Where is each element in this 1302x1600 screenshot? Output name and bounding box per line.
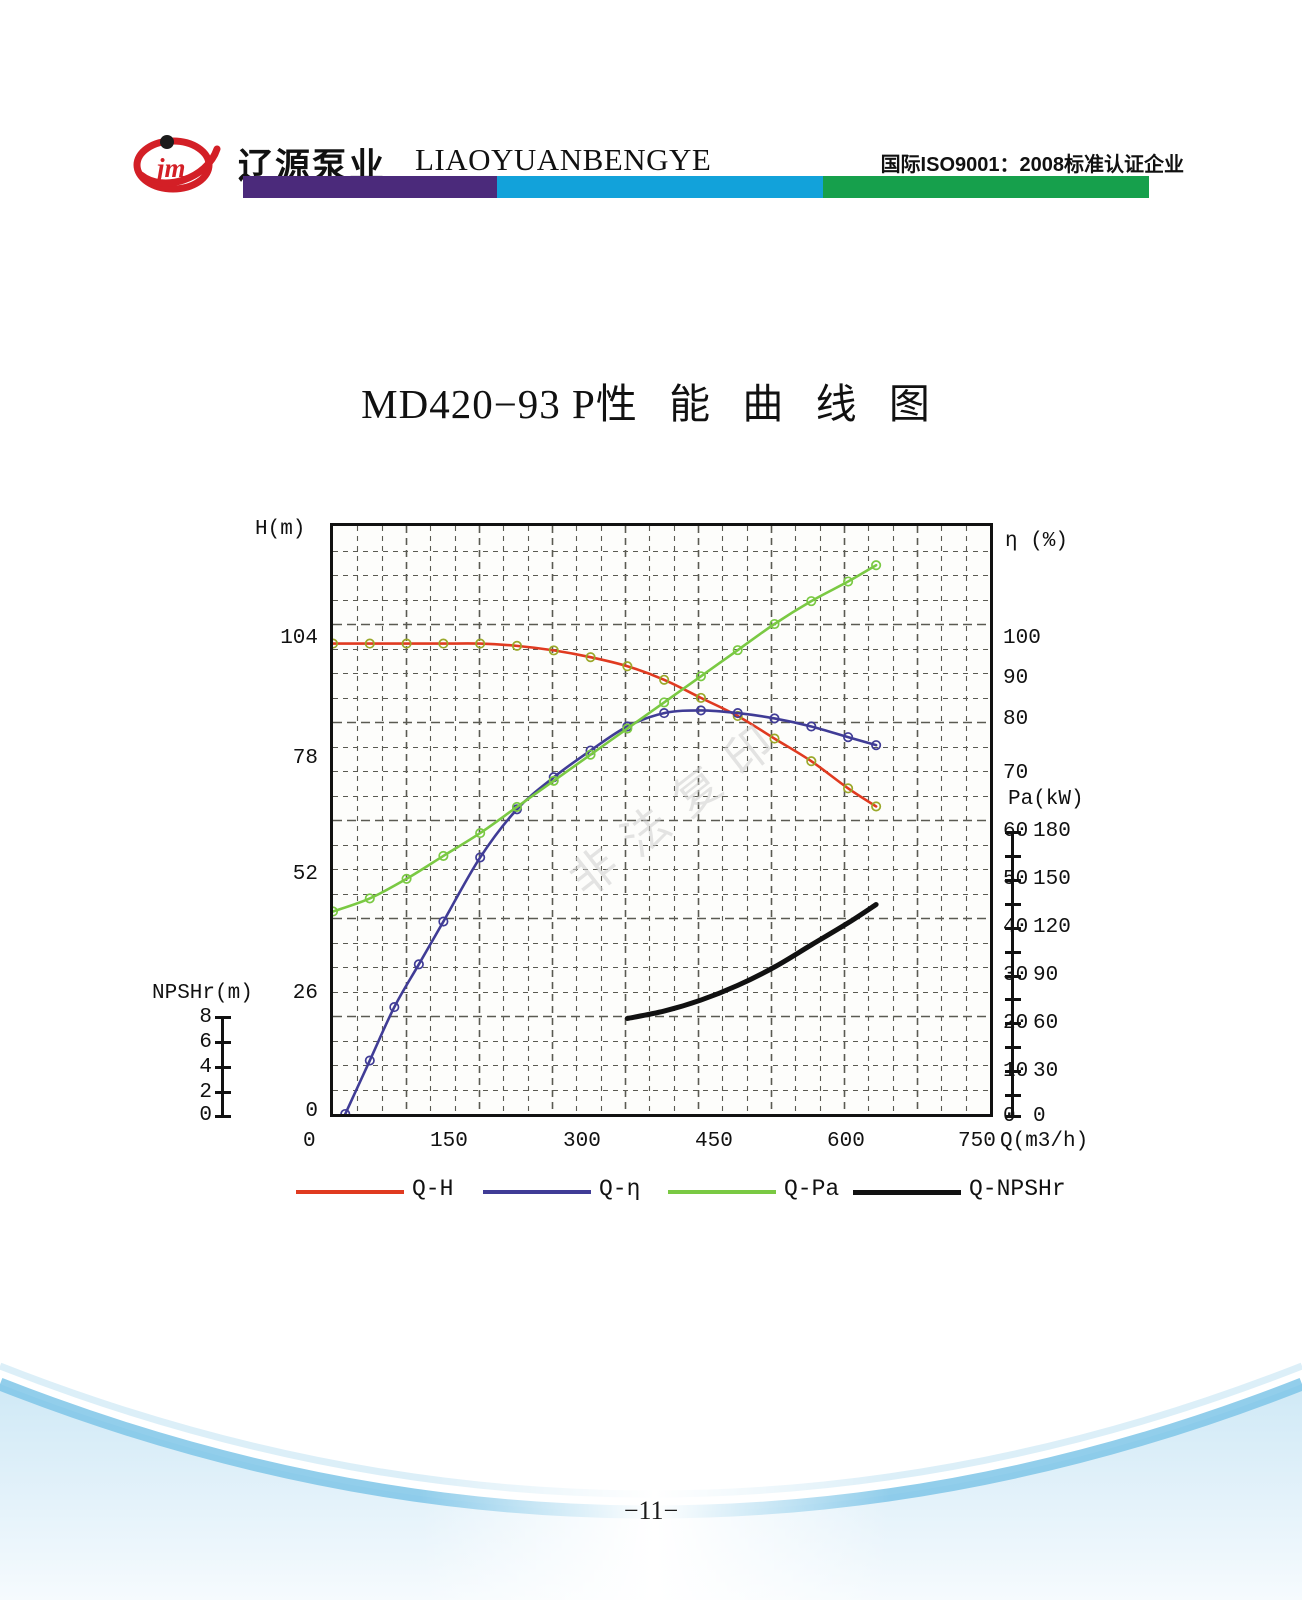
axis-tick-npshr-2: 2 <box>170 1081 212 1104</box>
npshr-ruler <box>221 1016 239 1118</box>
legend-label-qnpshr: Q-NPSHr <box>969 1176 1066 1202</box>
axis-tick-h-104: 104 <box>258 627 318 650</box>
axis-tick-npshr-6: 6 <box>170 1031 212 1054</box>
axis-tick-h-26: 26 <box>258 982 318 1005</box>
axis-tick-eta-100: 100 <box>1003 627 1041 650</box>
axis-title-npshr: NPSHr(m) <box>152 982 253 1005</box>
axis-tick-q-450: 450 <box>695 1130 733 1153</box>
axis-tick-q-750: 750 <box>958 1130 996 1153</box>
pa-ruler <box>1011 831 1029 1118</box>
axis-tick-pa-60: 60 <box>1033 1012 1058 1035</box>
axis-tick-npshr-4: 4 <box>170 1056 212 1079</box>
legend-swatch-qh <box>296 1190 404 1194</box>
page-number: −11− <box>0 1496 1302 1526</box>
axis-title-eta: η (%) <box>1005 530 1068 553</box>
axis-tick-eta-70: 70 <box>1003 762 1028 785</box>
axis-tick-npshr-8: 8 <box>170 1006 212 1029</box>
axis-title-h: H(m) <box>255 518 305 541</box>
axis-tick-h-52: 52 <box>258 863 318 886</box>
performance-curve-chart: H(m) 104 78 52 26 0 NPSHr(m) 8 6 4 2 0 η… <box>0 0 1302 1270</box>
legend-swatch-qnpshr <box>853 1190 961 1195</box>
legend-label-qeta: Q-η <box>599 1176 640 1202</box>
axis-tick-pa-150: 150 <box>1033 868 1071 891</box>
plot-curves <box>333 526 990 1114</box>
footer-decoration <box>0 1340 1302 1600</box>
curve-q-npshr <box>627 905 876 1019</box>
axis-title-pa: Pa(kW) <box>1008 788 1084 811</box>
axis-tick-pa-180: 180 <box>1033 820 1071 843</box>
axis-title-q: Q(m3/h) <box>1000 1130 1088 1153</box>
axis-tick-pa-90: 90 <box>1033 964 1058 987</box>
plot-area <box>330 523 993 1117</box>
axis-tick-pa-120: 120 <box>1033 916 1071 939</box>
axis-tick-pa-30: 30 <box>1033 1060 1058 1083</box>
axis-tick-eta-80: 80 <box>1003 708 1028 731</box>
axis-tick-npshr-0: 0 <box>170 1104 212 1127</box>
curve-q-h <box>333 643 876 806</box>
axis-tick-q-0: 0 <box>303 1130 316 1153</box>
axis-tick-eta-90: 90 <box>1003 667 1028 690</box>
legend-label-qpa: Q-Pa <box>784 1176 839 1202</box>
axis-tick-pa-0: 0 <box>1033 1105 1046 1128</box>
axis-tick-q-300: 300 <box>563 1130 601 1153</box>
axis-tick-h-78: 78 <box>258 747 318 770</box>
axis-tick-h-0: 0 <box>258 1100 318 1123</box>
chart-legend: Q-H Q-η Q-Pa Q-NPSHr <box>0 1176 1302 1216</box>
curve-q-pa <box>333 565 876 911</box>
legend-swatch-qpa <box>668 1190 776 1194</box>
curve-q- <box>345 710 876 1114</box>
legend-swatch-qeta <box>483 1190 591 1194</box>
legend-label-qh: Q-H <box>412 1176 453 1202</box>
axis-tick-q-150: 150 <box>430 1130 468 1153</box>
axis-tick-q-600: 600 <box>827 1130 865 1153</box>
